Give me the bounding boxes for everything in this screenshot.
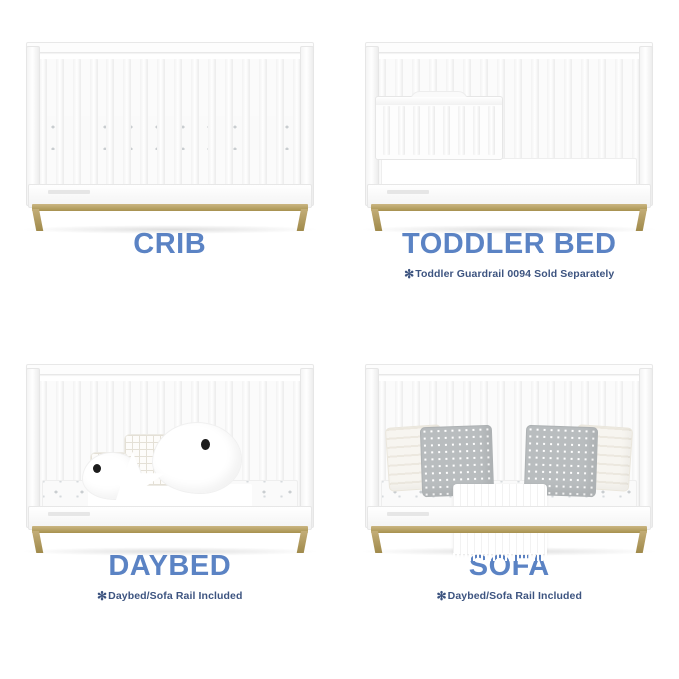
plush-eye bbox=[93, 464, 101, 473]
panel-crib[interactable]: CRIB bbox=[0, 0, 340, 340]
base-leg-left bbox=[32, 209, 43, 231]
brand-plate bbox=[387, 190, 429, 194]
sofa-frame bbox=[365, 356, 653, 552]
subtitle-sofa: ✻Daybed/Sofa Rail Included bbox=[436, 589, 582, 603]
daybed-metal-base bbox=[32, 526, 308, 552]
configuration-grid: CRIB bbox=[0, 0, 679, 679]
toddler-frame bbox=[365, 34, 653, 230]
base-rail bbox=[32, 204, 308, 211]
crib-slat-panel bbox=[26, 42, 314, 194]
base-rail bbox=[32, 526, 308, 533]
daybed-illustration bbox=[0, 352, 340, 552]
toddler-guardrail bbox=[375, 96, 503, 160]
subtitle-toddler-bed: ✻Toddler Guardrail 0094 Sold Separately bbox=[404, 267, 614, 281]
base-leg-left bbox=[371, 209, 382, 231]
label-crib: CRIB bbox=[133, 230, 206, 259]
subtitle-daybed: ✻Daybed/Sofa Rail Included bbox=[97, 589, 243, 603]
asterisk-icon: ✻ bbox=[404, 267, 414, 281]
base-leg-right bbox=[636, 209, 647, 231]
brand-plate bbox=[387, 512, 429, 516]
toddler-bed-illustration bbox=[340, 22, 679, 230]
panel-toddler-bed[interactable]: TODDLER BED ✻Toddler Guardrail 0094 Sold… bbox=[340, 0, 679, 340]
crib-post-right bbox=[300, 46, 314, 206]
crib-slats bbox=[39, 59, 301, 199]
base-leg-right bbox=[296, 531, 307, 553]
daybed-post-left bbox=[26, 368, 40, 528]
daybed-frame bbox=[26, 356, 314, 552]
base-rail bbox=[371, 526, 647, 533]
asterisk-icon: ✻ bbox=[97, 589, 107, 603]
panel-daybed[interactable]: DAYBED ✻Daybed/Sofa Rail Included bbox=[0, 340, 340, 679]
subtitle-text: Toddler Guardrail 0094 Sold Separately bbox=[415, 268, 614, 280]
sofa-post-left bbox=[365, 368, 379, 528]
toddler-post-right bbox=[639, 46, 653, 206]
subtitle-text: Daybed/Sofa Rail Included bbox=[108, 590, 242, 602]
panel-sofa[interactable]: SOFA ✻Daybed/Sofa Rail Included bbox=[340, 340, 679, 679]
crib-metal-base bbox=[32, 204, 308, 230]
base-leg-left bbox=[32, 531, 43, 553]
subtitle-text: Daybed/Sofa Rail Included bbox=[448, 590, 582, 602]
base-leg-right bbox=[636, 531, 647, 553]
label-toddler-bed: TODDLER BED bbox=[402, 230, 616, 259]
guardrail-top-rail bbox=[376, 97, 502, 105]
sofa-illustration bbox=[340, 352, 679, 552]
base-leg-right bbox=[296, 209, 307, 231]
sofa-post-right bbox=[639, 368, 653, 528]
crib-post-left bbox=[26, 46, 40, 206]
brand-plate bbox=[48, 190, 90, 194]
asterisk-icon: ✻ bbox=[436, 589, 446, 603]
daybed-post-right bbox=[300, 368, 314, 528]
base-leg-left bbox=[371, 531, 382, 553]
crib-frame bbox=[26, 34, 314, 230]
label-daybed: DAYBED bbox=[108, 552, 231, 581]
throw-fringe bbox=[453, 553, 547, 561]
base-rail bbox=[371, 204, 647, 211]
plush-animal-large bbox=[152, 422, 242, 494]
brand-plate bbox=[48, 512, 90, 516]
plush-eye bbox=[201, 439, 210, 450]
sofa-metal-base bbox=[371, 526, 647, 552]
crib-illustration bbox=[0, 22, 340, 230]
toddler-metal-base bbox=[371, 204, 647, 230]
guardrail-slats bbox=[383, 106, 495, 155]
